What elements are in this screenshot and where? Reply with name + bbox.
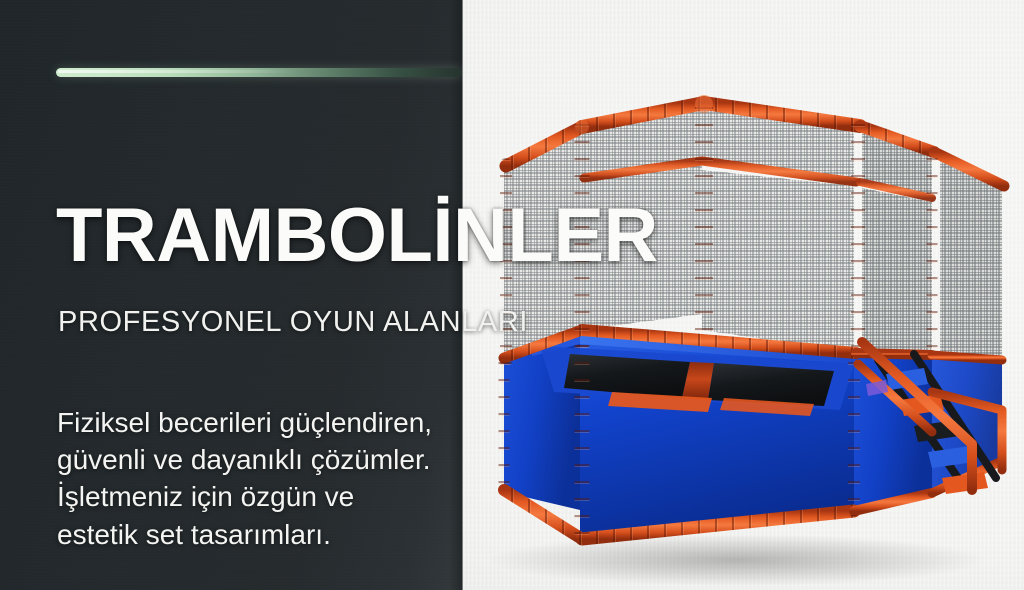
description-line: Fiziksel becerileri güçlendiren, — [57, 404, 497, 441]
description-line: estetik set tasarımları. — [57, 516, 497, 553]
subtitle: PROFESYONEL OYUN ALANLARI — [58, 308, 528, 337]
description-text: Fiziksel becerileri güçlendiren, güvenli… — [57, 404, 497, 553]
description-line: İşletmeniz için özgün ve — [57, 478, 497, 515]
description-line: güvenli ve dayanıklı çözümler. — [57, 441, 497, 478]
accent-rule — [56, 68, 462, 77]
page-title: TRAMBOLİNLER — [56, 198, 658, 274]
promo-banner: TRAMBOLİNLER PROFESYONEL OYUN ALANLARI F… — [0, 0, 1024, 590]
trampoline-set-illustration — [462, 92, 1024, 590]
